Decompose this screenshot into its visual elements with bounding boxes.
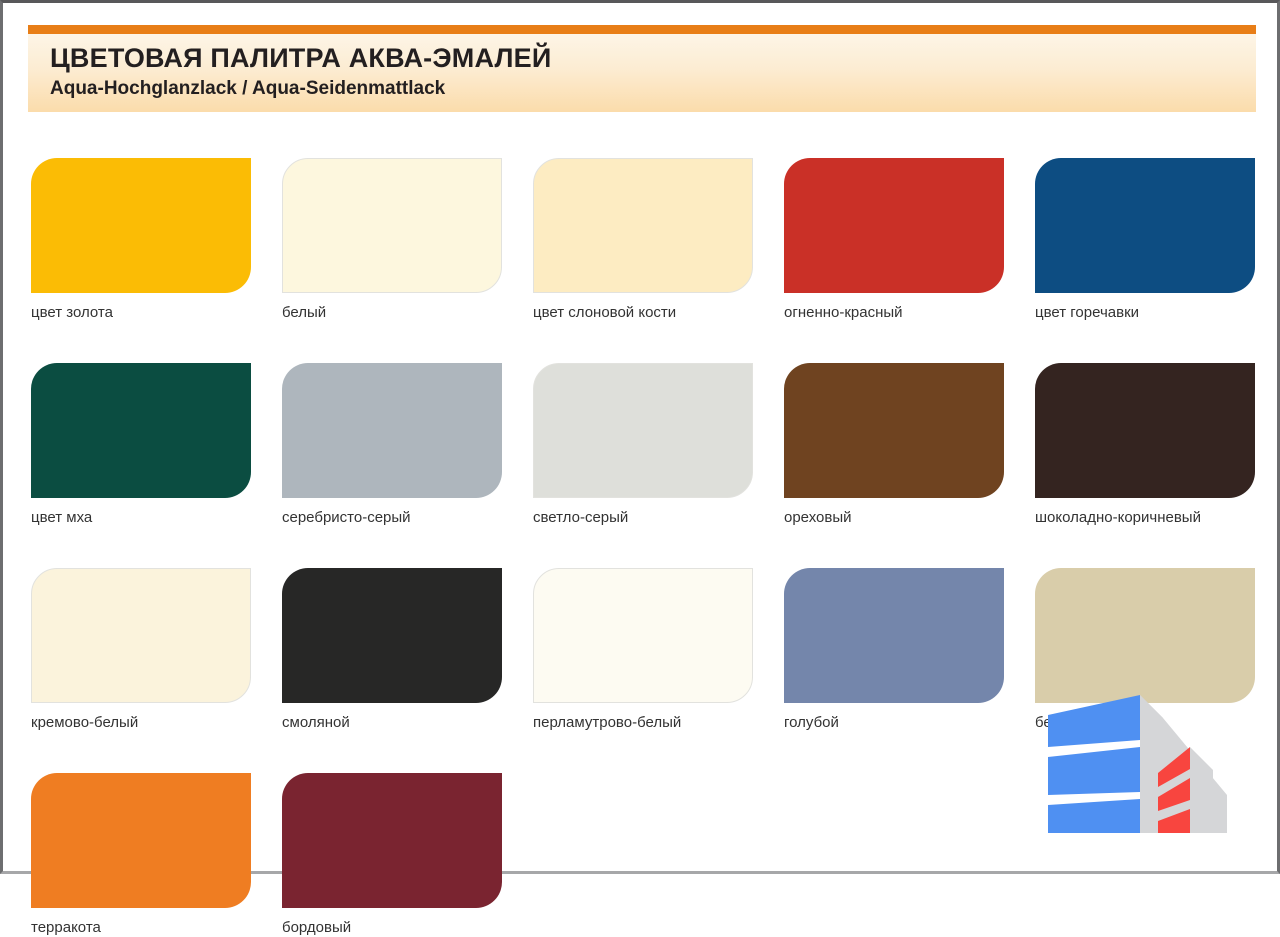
building-blocks-logo: [1027, 685, 1237, 843]
swatch-label: шоколадно-коричневый: [1035, 509, 1255, 527]
swatch-label: цвет золота: [31, 304, 251, 322]
header-band: ЦВЕТОВАЯ ПАЛИТРА АКВА-ЭМАЛЕЙ Aqua-Hochgl…: [28, 34, 1256, 112]
logo-gray-wedge-upper: [1140, 695, 1163, 833]
color-swatch[interactable]: [533, 568, 753, 703]
swatch-label: смоляной: [282, 714, 502, 732]
color-swatch[interactable]: [31, 158, 251, 293]
poster-header: ЦВЕТОВАЯ ПАЛИТРА АКВА-ЭМАЛЕЙ Aqua-Hochgl…: [28, 25, 1256, 112]
swatch-label: светло-серый: [533, 509, 753, 527]
color-swatch[interactable]: [282, 568, 502, 703]
swatch-cell[interactable]: огненно-красный: [784, 158, 1004, 322]
color-swatch[interactable]: [784, 568, 1004, 703]
swatch-label: бордовый: [282, 919, 502, 937]
color-swatch[interactable]: [784, 363, 1004, 498]
color-swatch[interactable]: [1035, 568, 1255, 703]
color-swatch[interactable]: [533, 363, 753, 498]
color-palette-poster: ЦВЕТОВАЯ ПАЛИТРА АКВА-ЭМАЛЕЙ Aqua-Hochgl…: [0, 0, 1280, 874]
swatch-label: серебристо-серый: [282, 509, 502, 527]
header-accent-rule: [28, 25, 1256, 34]
swatch-cell[interactable]: терракота: [31, 773, 251, 937]
swatch-label: терракота: [31, 919, 251, 937]
logo-blue-band-top: [1048, 695, 1140, 747]
color-swatch[interactable]: [533, 158, 753, 293]
swatch-cell[interactable]: цвет слоновой кости: [533, 158, 753, 322]
swatch-label: кремово-белый: [31, 714, 251, 732]
swatch-label: белый: [282, 304, 502, 322]
swatch-label: цвет мха: [31, 509, 251, 527]
swatch-label: цвет горечавки: [1035, 304, 1255, 322]
swatch-cell[interactable]: светло-серый: [533, 363, 753, 527]
swatch-cell[interactable]: цвет золота: [31, 158, 251, 322]
color-swatch[interactable]: [31, 568, 251, 703]
color-swatch[interactable]: [31, 773, 251, 908]
swatch-cell[interactable]: бордовый: [282, 773, 502, 937]
swatch-cell[interactable]: перламутрово-белый: [533, 568, 753, 732]
swatch-label: цвет слоновой кости: [533, 304, 753, 322]
swatch-label: голубой: [784, 714, 1004, 732]
color-swatch[interactable]: [1035, 158, 1255, 293]
swatch-cell[interactable]: кремово-белый: [31, 568, 251, 732]
color-swatch[interactable]: [784, 158, 1004, 293]
swatch-cell[interactable]: смоляной: [282, 568, 502, 732]
swatch-cell[interactable]: белый: [282, 158, 502, 322]
logo-blue-band-bottom: [1048, 799, 1140, 833]
swatch-label: перламутрово-белый: [533, 714, 753, 732]
swatch-cell[interactable]: серебристо-серый: [282, 363, 502, 527]
color-swatch[interactable]: [282, 363, 502, 498]
swatch-cell[interactable]: цвет мха: [31, 363, 251, 527]
swatch-cell[interactable]: голубой: [784, 568, 1004, 732]
color-swatch[interactable]: [282, 158, 502, 293]
color-swatch[interactable]: [1035, 363, 1255, 498]
color-swatch[interactable]: [282, 773, 502, 908]
page-title: ЦВЕТОВАЯ ПАЛИТРА АКВА-ЭМАЛЕЙ: [50, 43, 1256, 74]
color-swatch[interactable]: [31, 363, 251, 498]
page-subtitle: Aqua-Hochglanzlack / Aqua-Seidenmattlack: [50, 77, 1256, 101]
swatch-cell[interactable]: цвет горечавки: [1035, 158, 1255, 322]
swatch-cell[interactable]: ореховый: [784, 363, 1004, 527]
swatch-label: ореховый: [784, 509, 1004, 527]
swatch-cell[interactable]: шоколадно-коричневый: [1035, 363, 1255, 527]
logo-blue-band-mid: [1048, 747, 1140, 795]
swatch-label: огненно-красный: [784, 304, 1004, 322]
